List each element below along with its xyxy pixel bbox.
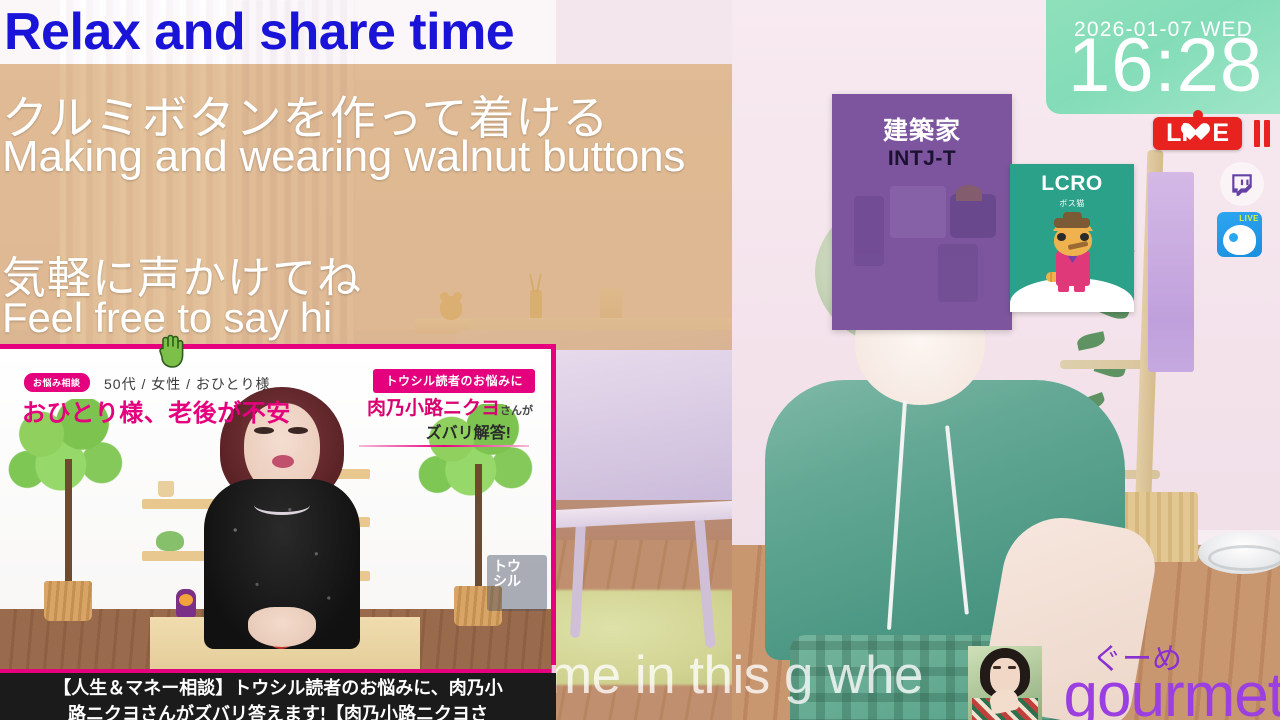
overlay-subtitle-en: Making and wearing walnut buttons (2, 132, 685, 182)
divider-rule (359, 445, 529, 447)
gourmet-label-en: gourmet (1064, 660, 1280, 720)
table-figurine (176, 589, 196, 617)
video-frame: いまの ト (0, 349, 551, 669)
low-table (545, 499, 760, 528)
watermark-text: トウシル (493, 559, 521, 590)
video-answer-text: ズバリ解答! (426, 419, 511, 443)
caption-bar: 【人生＆マネー相談】トウシル読者のお悩みに、肉乃小 路ニクヨさんがズバリ答えます… (0, 673, 556, 720)
line-live-badge-label: LIVE (1239, 214, 1259, 223)
clock-widget: 2026-01-07 WED 16:28 (1046, 0, 1280, 114)
video-headline: おひとり様、老後が不安 (22, 393, 291, 428)
twitch-icon[interactable] (1220, 162, 1264, 206)
plant-left (8, 399, 128, 629)
bird-mascot-icon (1223, 225, 1256, 255)
video-band-label: トウシル読者のお悩みに (373, 369, 535, 393)
guest-name-text: 肉乃小路ニクヨ (367, 398, 500, 419)
overlay-title: Relax and share time (4, 2, 514, 62)
live-label-right: E (1212, 121, 1229, 146)
pip-avatar[interactable] (968, 646, 1042, 720)
caption-line-2: 路ニクヨさんがズバリ答えます!【肉乃小路ニクヨさ (0, 701, 556, 720)
stream-overlay-screen: 建築家 INTJ-T LCRO ボス猫 Relax and share time… (0, 0, 1280, 720)
mbti-code: INTJ-T (832, 147, 1012, 171)
lcro-title: LCRO (1010, 172, 1134, 196)
lcro-poster: LCRO ボス猫 (1010, 164, 1134, 312)
mbti-illustration (846, 186, 998, 322)
video-guest-name: 肉乃小路ニクヨさんが (367, 393, 533, 420)
heart-icon (1190, 124, 1210, 143)
video-meta: 50代 / 女性 / おひとり様 (104, 374, 271, 394)
pause-icon (1254, 120, 1270, 147)
mbti-title: 建築家 (832, 111, 1012, 147)
live-badge: Li E (1153, 117, 1242, 150)
guest-name-suffix: さんが (500, 405, 533, 417)
lcro-subtitle: ボス猫 (1010, 198, 1134, 209)
channel-watermark: トウシル (487, 555, 547, 611)
video-player[interactable]: いまの ト (0, 344, 556, 674)
line-live-icon[interactable]: LIVE (1217, 212, 1262, 257)
live-badge-nub (1193, 110, 1203, 120)
robot-vacuum (1198, 532, 1280, 574)
presenter-hands (248, 607, 316, 647)
caption-line-1: 【人生＆マネー相談】トウシル読者のお悩みに、肉乃小 (0, 673, 556, 701)
hanging-scarf (1148, 172, 1194, 372)
mbti-poster: 建築家 INTJ-T (832, 94, 1012, 330)
video-tag-badge: お悩み相談 (24, 373, 90, 392)
boss-cat-mascot (1048, 216, 1098, 296)
clock-time: 16:28 (1068, 28, 1263, 104)
hand-cursor-icon (156, 334, 186, 368)
